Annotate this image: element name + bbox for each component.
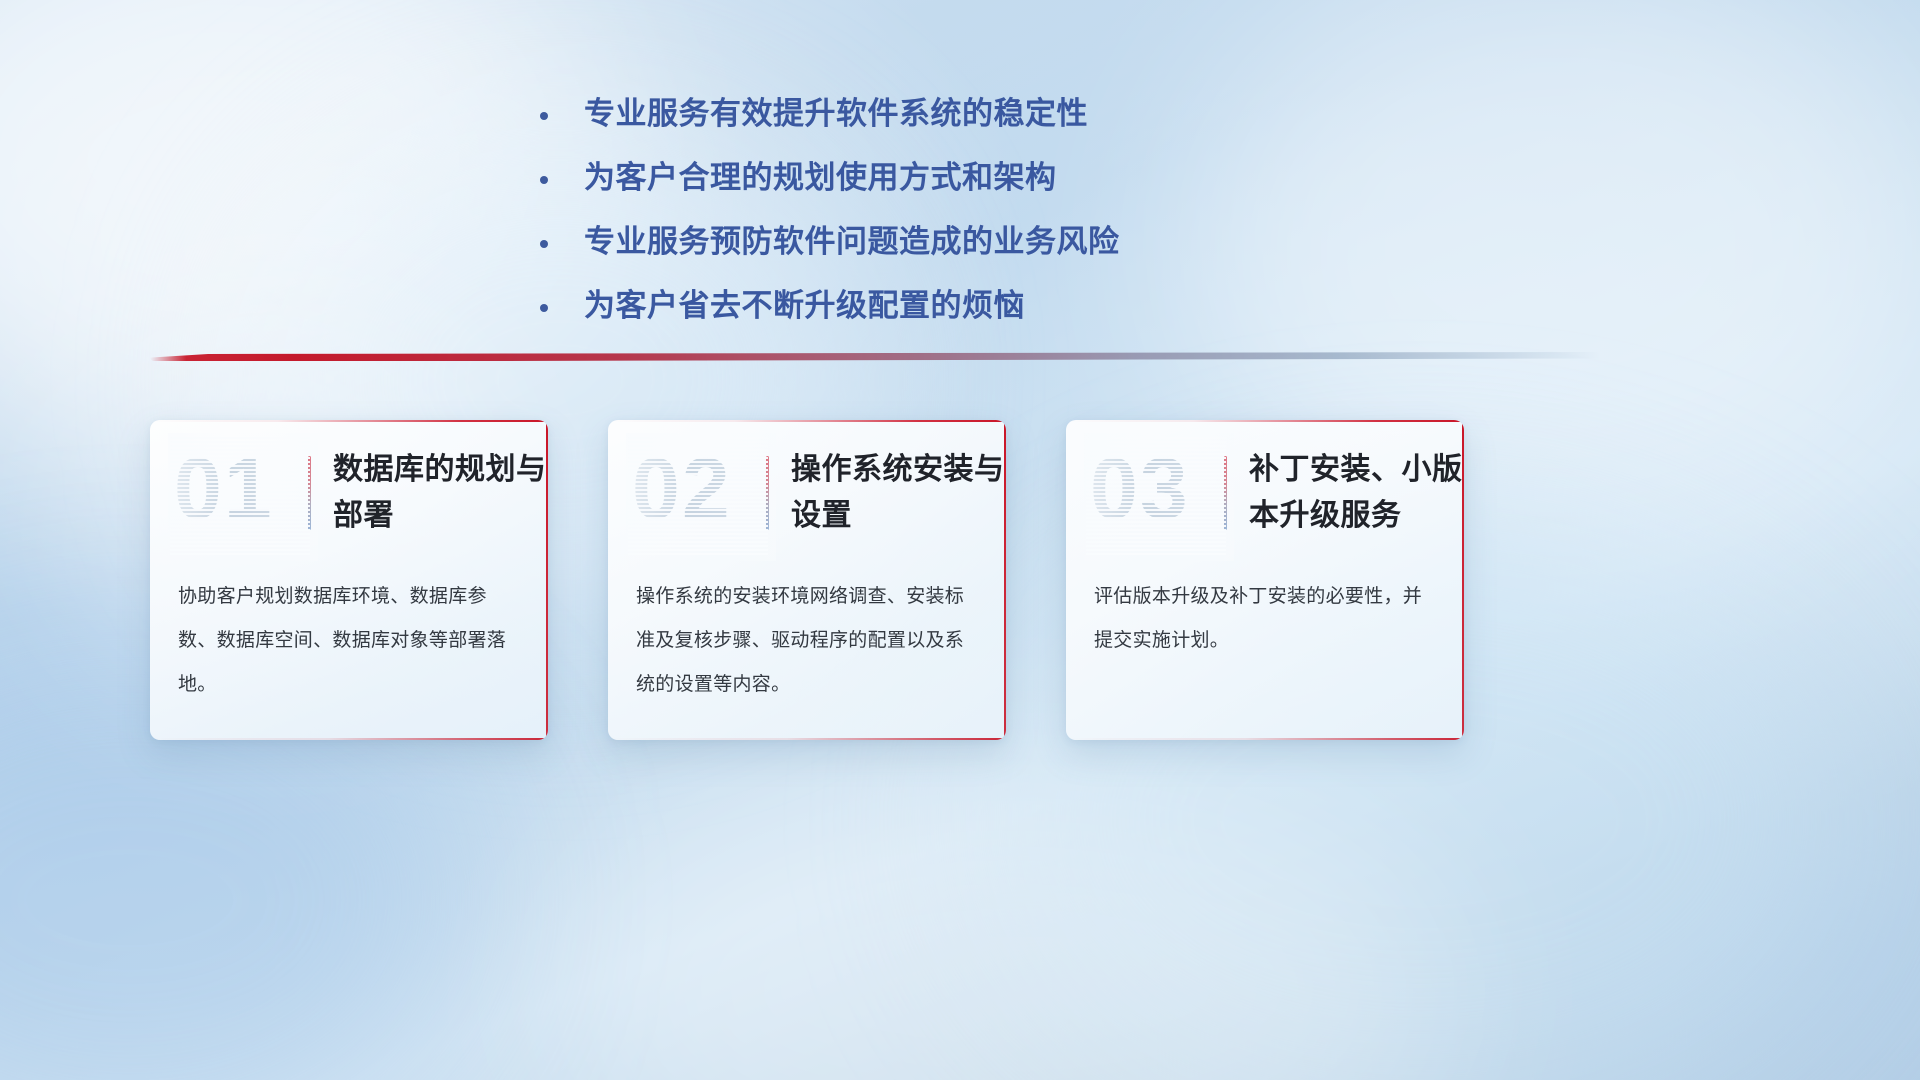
card-number-watermark: 02 [632, 447, 752, 539]
bullet-text: 专业服务预防软件问题造成的业务风险 [584, 218, 1120, 266]
card-accent-bottom [608, 738, 1006, 740]
card-body-text: 操作系统的安装环境网络调查、安装标准及复核步骤、驱动程序的配置以及系统的设置等内… [608, 565, 1006, 707]
bullet-dot-icon [540, 240, 548, 248]
card-title-separator [308, 456, 311, 530]
card-number-text: 02 [632, 439, 732, 539]
card-accent-bottom [150, 738, 548, 740]
slide-root: 专业服务有效提升软件系统的稳定性 为客户合理的规划使用方式和架构 专业服务预防软… [0, 0, 1920, 1080]
list-item: 为客户省去不断升级配置的烦恼 [540, 282, 1360, 346]
card-number-text: 03 [1090, 439, 1190, 539]
card-row: 01 数据库的规划与部署 协助客户规划数据库环境、数据库参数、数据库空间、数据库… [0, 420, 1920, 740]
card-title: 补丁安装、小版本升级服务 [1249, 447, 1464, 539]
card-header: 02 操作系统安装与设置 [608, 420, 1006, 565]
card-number-watermark: 01 [174, 447, 294, 539]
card-title-separator [766, 456, 769, 530]
list-item: 专业服务有效提升软件系统的稳定性 [540, 90, 1360, 154]
card-01[interactable]: 01 数据库的规划与部署 协助客户规划数据库环境、数据库参数、数据库空间、数据库… [150, 420, 548, 740]
card-02[interactable]: 02 操作系统安装与设置 操作系统的安装环境网络调查、安装标准及复核步骤、驱动程… [608, 420, 1006, 740]
bullet-text: 为客户合理的规划使用方式和架构 [584, 154, 1057, 202]
bullet-dot-icon [540, 304, 548, 312]
bullet-dot-icon [540, 112, 548, 120]
card-title: 数据库的规划与部署 [333, 447, 548, 539]
card-03[interactable]: 03 补丁安装、小版本升级服务 评估版本升级及补丁安装的必要性，并提交实施计划。 [1066, 420, 1464, 740]
list-item: 为客户合理的规划使用方式和架构 [540, 154, 1360, 218]
bullet-text: 专业服务有效提升软件系统的稳定性 [584, 90, 1088, 138]
card-accent-bottom [1066, 738, 1464, 740]
background-bloom [0, 0, 600, 440]
bullet-text: 为客户省去不断升级配置的烦恼 [584, 282, 1025, 330]
card-title: 操作系统安装与设置 [791, 447, 1006, 539]
card-number-watermark: 03 [1090, 447, 1210, 539]
card-header: 03 补丁安装、小版本升级服务 [1066, 420, 1464, 565]
divider-line [150, 352, 1600, 361]
card-title-separator [1224, 456, 1227, 530]
section-divider [150, 352, 1600, 361]
card-body-text: 协助客户规划数据库环境、数据库参数、数据库空间、数据库对象等部署落地。 [150, 565, 548, 707]
card-number-text: 01 [174, 439, 274, 539]
bullet-dot-icon [540, 176, 548, 184]
background-bloom [560, 760, 1460, 1080]
bullet-list: 专业服务有效提升软件系统的稳定性 为客户合理的规划使用方式和架构 专业服务预防软… [540, 90, 1360, 346]
card-header: 01 数据库的规划与部署 [150, 420, 548, 565]
card-body-text: 评估版本升级及补丁安装的必要性，并提交实施计划。 [1066, 565, 1464, 663]
list-item: 专业服务预防软件问题造成的业务风险 [540, 218, 1360, 282]
